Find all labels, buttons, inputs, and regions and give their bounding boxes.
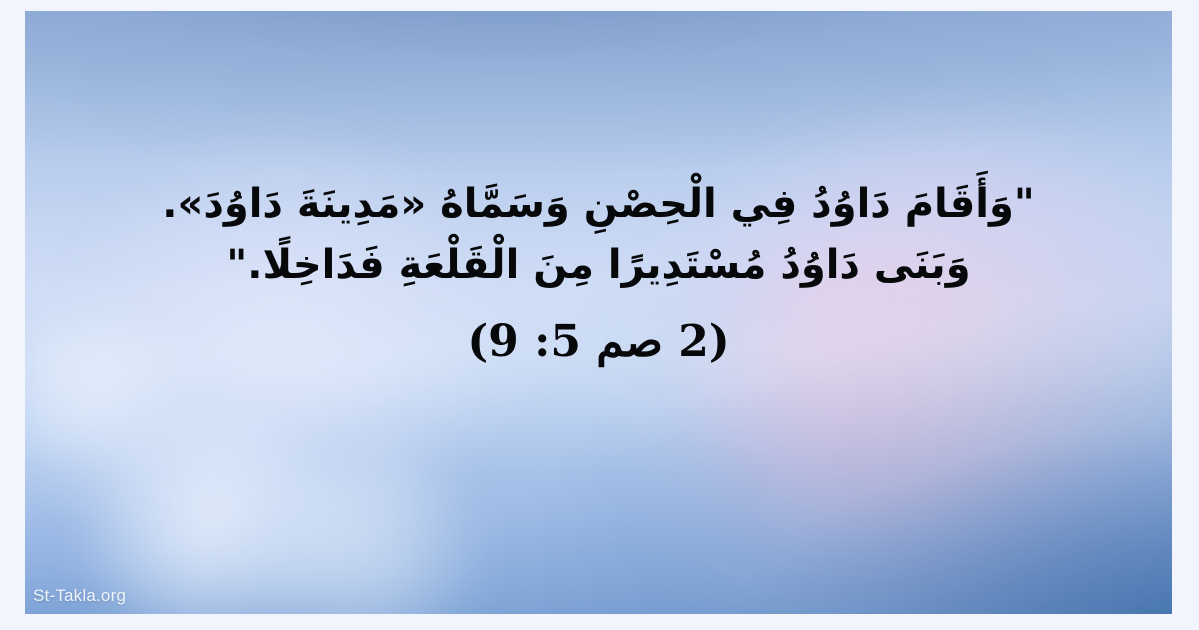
page-canvas: "وَأَقَامَ دَاوُدُ فِي الْحِصْنِ وَسَمَّ… — [0, 0, 1199, 630]
verse-line-2: وَبَنَى دَاوُدُ مُسْتَدِيرًا مِنَ الْقَل… — [65, 235, 1132, 296]
verse-image-card: "وَأَقَامَ دَاوُدُ فِي الْحِصْنِ وَسَمَّ… — [25, 11, 1172, 614]
watermark-st-takla: St-Takla.org — [33, 586, 126, 606]
verse-reference: (2 صم 5: 9) — [65, 316, 1132, 369]
verse-text-block: "وَأَقَامَ دَاوُدُ فِي الْحِصْنِ وَسَمَّ… — [25, 174, 1172, 368]
verse-line-1: "وَأَقَامَ دَاوُدُ فِي الْحِصْنِ وَسَمَّ… — [65, 174, 1132, 235]
